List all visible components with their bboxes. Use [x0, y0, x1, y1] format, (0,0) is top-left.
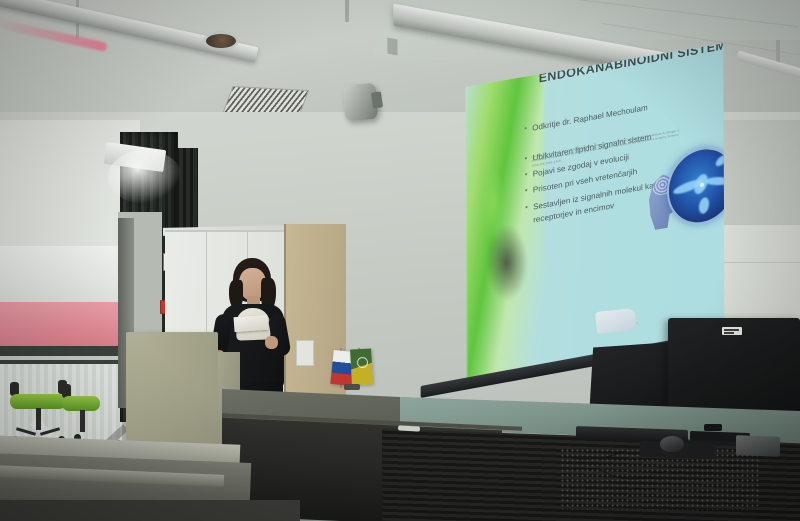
synapse-branch: [698, 197, 710, 214]
window-exterior-pink-building: [0, 302, 124, 348]
slide-illustration: [645, 142, 724, 312]
chair-seat: [10, 394, 66, 409]
projection-screen-end-cap: [387, 38, 397, 56]
tissue-box: [595, 308, 637, 334]
wall-sconce-glow: [108, 150, 182, 204]
computer-mouse[interactable]: [660, 436, 684, 452]
presentation-remote[interactable]: [398, 425, 420, 431]
chair-stem: [80, 410, 85, 432]
window-mullion: [0, 356, 132, 360]
chair-stem: [36, 408, 41, 430]
flag-stand: [318, 348, 378, 398]
floor-shadow: [0, 500, 300, 521]
flag-emblem: [357, 357, 368, 368]
window-exterior-band: [0, 346, 124, 364]
lecture-hall-photo: ENDOKANABINOIDNI SISTEM Odkritje dr. Rap…: [0, 0, 800, 521]
monitor-label-sticker: [722, 327, 742, 335]
flag-base: [344, 384, 360, 390]
presenter-hand: [265, 336, 278, 349]
wall-panel: [296, 340, 314, 366]
power-plug: [704, 424, 722, 431]
light-suspension-rod: [345, 0, 349, 22]
chair-seat: [62, 396, 100, 411]
ceiling-dome-detector: [206, 34, 236, 48]
desk-device-box: [736, 435, 780, 457]
window-exterior-sky: [0, 246, 132, 302]
slide-green-highlight: [479, 167, 506, 242]
speaker-mount: [371, 91, 383, 108]
presenter-notes: [234, 315, 269, 332]
desk-partition-panel: [126, 332, 218, 452]
